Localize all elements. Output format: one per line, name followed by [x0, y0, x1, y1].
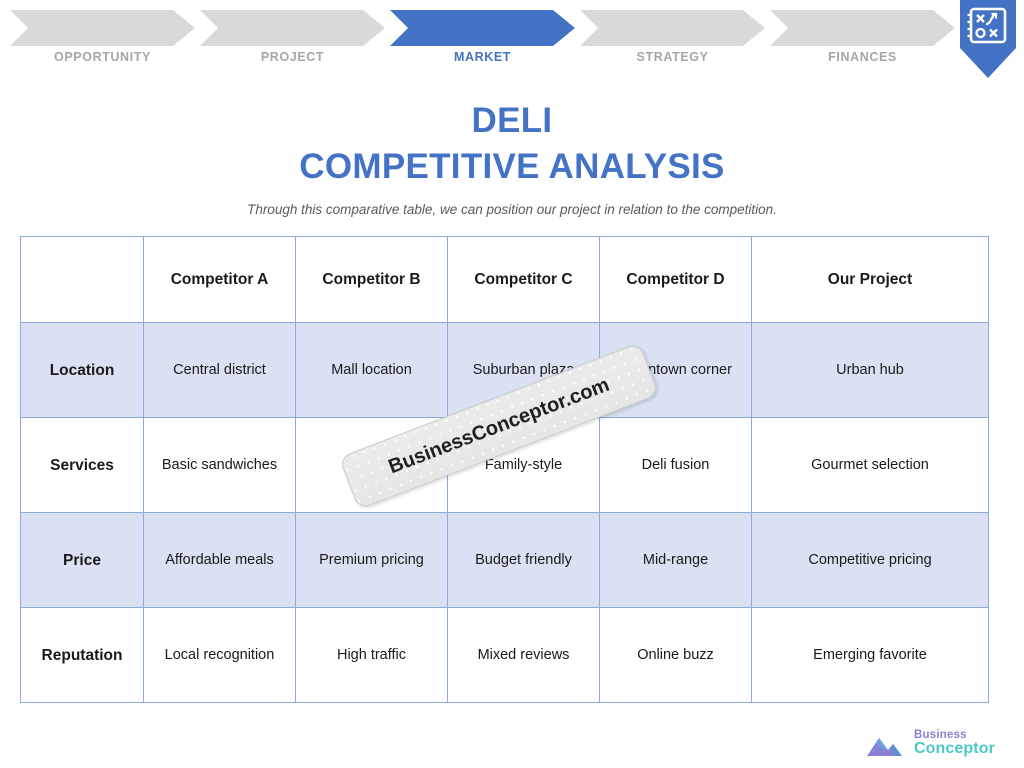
cell-location-our-project: Urban hub — [752, 323, 989, 418]
nav-arrow-strategy[interactable] — [580, 10, 765, 46]
row-label-location: Location — [21, 323, 144, 418]
footer-logo: Business Conceptor — [866, 728, 1018, 764]
row-label-price: Price — [21, 513, 144, 608]
nav-label-strip: OPPORTUNITY PROJECT MARKET STRATEGY FINA… — [10, 46, 955, 68]
nav-arrow-finances[interactable] — [770, 10, 955, 46]
table-row-price: Price Affordable meals Premium pricing B… — [21, 513, 989, 608]
cell-price-our-project: Competitive pricing — [752, 513, 989, 608]
row-label-services: Services — [21, 418, 144, 513]
row-label-reputation: Reputation — [21, 608, 144, 703]
title-block: DELI COMPETITIVE ANALYSIS Through this c… — [0, 98, 1024, 217]
cell-reputation-comp-b: High traffic — [296, 608, 448, 703]
page-title-line2: COMPETITIVE ANALYSIS — [0, 144, 1024, 190]
table-row-reputation: Reputation Local recognition High traffi… — [21, 608, 989, 703]
column-header-our-project: Our Project — [752, 237, 989, 323]
nav-arrow-project[interactable] — [200, 10, 385, 46]
competitive-analysis-table: Competitor A Competitor B Competitor C C… — [20, 236, 989, 703]
cell-reputation-comp-d: Online buzz — [600, 608, 752, 703]
column-header-comp-b: Competitor B — [296, 237, 448, 323]
page-title-line1: DELI — [0, 98, 1024, 144]
nav-arrow-market[interactable] — [390, 10, 575, 46]
cell-price-comp-a: Affordable meals — [144, 513, 296, 608]
cell-services-our-project: Gourmet selection — [752, 418, 989, 513]
stage-navigation: OPPORTUNITY PROJECT MARKET STRATEGY FINA… — [0, 0, 1024, 82]
nav-item-finances[interactable]: FINANCES — [770, 46, 955, 68]
cell-reputation-comp-c: Mixed reviews — [448, 608, 600, 703]
cell-location-comp-b: Mall location — [296, 323, 448, 418]
table-header-row: Competitor A Competitor B Competitor C C… — [21, 237, 989, 323]
mountains-icon — [866, 734, 916, 760]
cell-reputation-our-project: Emerging favorite — [752, 608, 989, 703]
cell-location-comp-a: Central district — [144, 323, 296, 418]
footer-logo-text: Business Conceptor — [914, 729, 995, 757]
strategy-matrix-pin-icon — [960, 0, 1016, 78]
table-corner-cell — [21, 237, 144, 323]
cell-price-comp-b: Premium pricing — [296, 513, 448, 608]
column-header-comp-c: Competitor C — [448, 237, 600, 323]
slide-canvas: OPPORTUNITY PROJECT MARKET STRATEGY FINA… — [0, 0, 1024, 768]
nav-arrow-opportunity[interactable] — [10, 10, 195, 46]
column-header-comp-a: Competitor A — [144, 237, 296, 323]
cell-reputation-comp-a: Local recognition — [144, 608, 296, 703]
nav-item-opportunity[interactable]: OPPORTUNITY — [10, 46, 195, 68]
nav-item-market[interactable]: MARKET — [390, 46, 575, 68]
nav-arrow-strip — [10, 10, 955, 46]
cell-price-comp-d: Mid-range — [600, 513, 752, 608]
cell-price-comp-c: Budget friendly — [448, 513, 600, 608]
cell-services-comp-d: Deli fusion — [600, 418, 752, 513]
nav-item-project[interactable]: PROJECT — [200, 46, 385, 68]
nav-item-strategy[interactable]: STRATEGY — [580, 46, 765, 68]
page-subtitle: Through this comparative table, we can p… — [0, 202, 1024, 217]
cell-services-comp-a: Basic sandwiches — [144, 418, 296, 513]
column-header-comp-d: Competitor D — [600, 237, 752, 323]
footer-logo-line2: Conceptor — [914, 740, 995, 757]
